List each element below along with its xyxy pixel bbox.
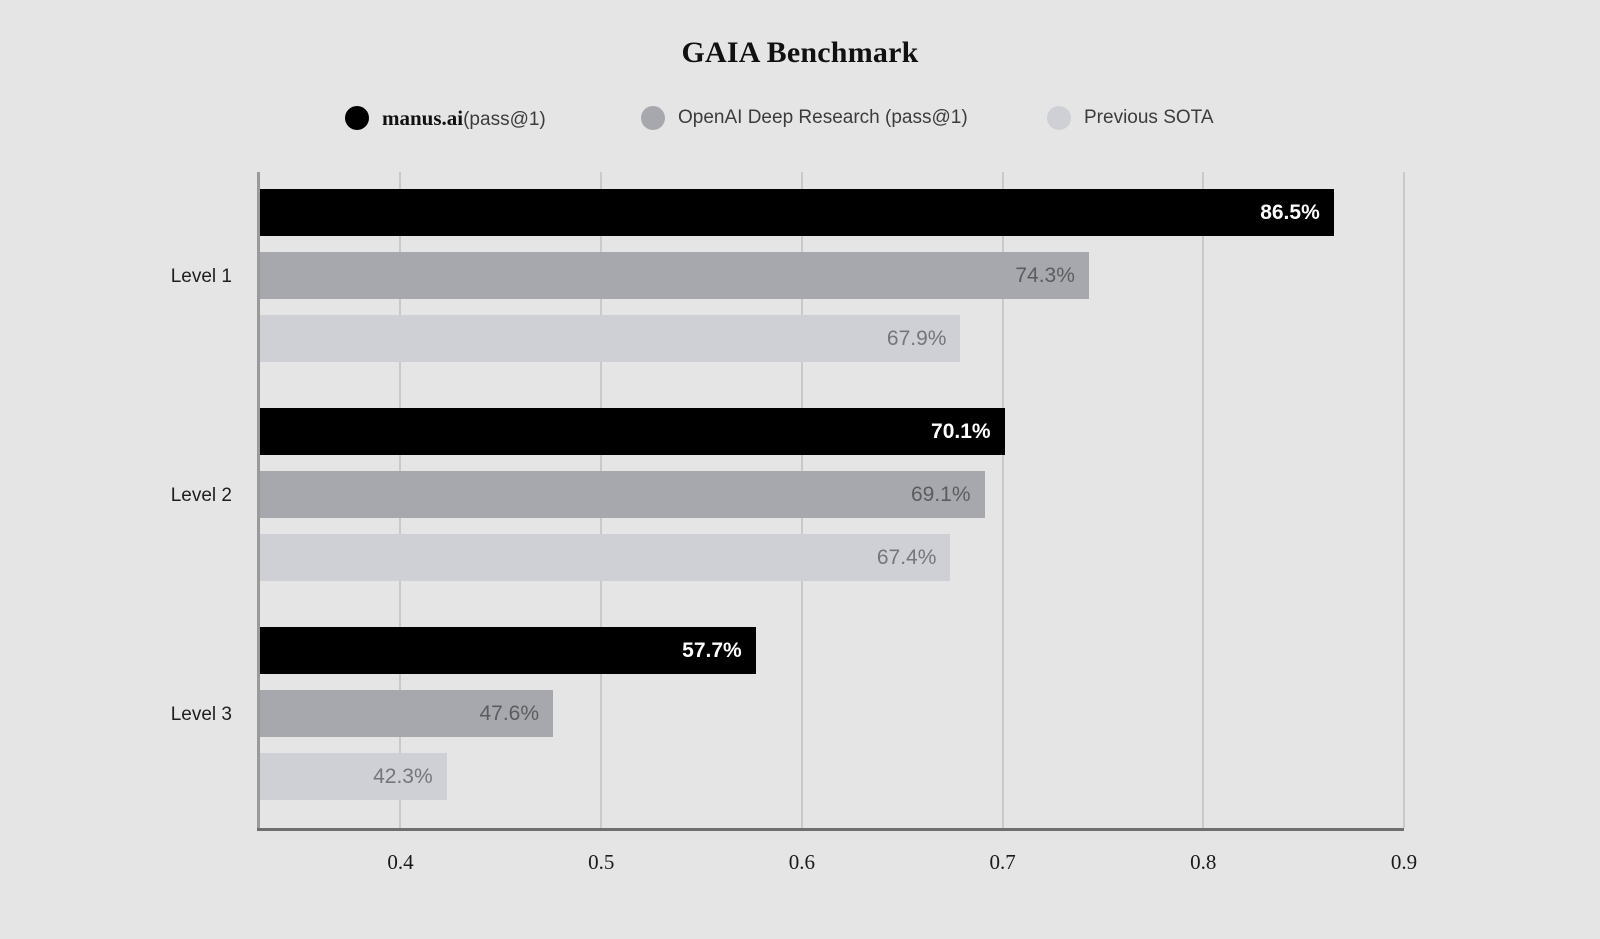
bar-level-1-series-0[interactable]: 86.5%: [260, 189, 1334, 236]
bar-level-2-series-0[interactable]: 70.1%: [260, 408, 1005, 455]
legend-item-previous-sota[interactable]: Previous SOTA: [1047, 100, 1214, 136]
x-axis-tick-label: 0.4: [340, 852, 460, 873]
bar-value-label: 67.4%: [877, 547, 951, 568]
chart-legend: manus.ai(pass@1) OpenAI Deep Research (p…: [345, 100, 1245, 136]
gridline: [1403, 172, 1405, 828]
bar-value-label: 57.7%: [682, 640, 756, 661]
x-axis-spine: [257, 828, 1404, 831]
bar-value-label: 67.9%: [887, 328, 961, 349]
legend-item-openai-deep-research[interactable]: OpenAI Deep Research (pass@1): [641, 100, 968, 136]
bar-level-3-series-2[interactable]: 42.3%: [260, 753, 447, 800]
legend-swatch-icon: [1047, 106, 1071, 130]
x-axis-tick-label: 0.9: [1344, 852, 1464, 873]
bar-level-3-series-0[interactable]: 57.7%: [260, 627, 756, 674]
chart-figure: GAIA Benchmark manus.ai(pass@1) OpenAI D…: [0, 0, 1600, 939]
legend-swatch-icon: [641, 106, 665, 130]
bar-value-label: 42.3%: [373, 766, 447, 787]
legend-item-label: OpenAI Deep Research (pass@1): [678, 107, 968, 129]
chart-title: GAIA Benchmark: [0, 38, 1600, 68]
x-axis-tick-label: 0.5: [541, 852, 661, 873]
legend-suffix-text: (pass@1): [463, 109, 546, 130]
legend-item-label: Previous SOTA: [1084, 107, 1214, 129]
legend-brand-text: manus.ai: [382, 106, 463, 130]
bar-value-label: 70.1%: [931, 421, 1005, 442]
x-axis-tick-label: 0.7: [943, 852, 1063, 873]
bar-value-label: 74.3%: [1015, 265, 1089, 286]
bar-value-label: 69.1%: [911, 484, 985, 505]
bar-value-label: 47.6%: [479, 703, 553, 724]
gridline: [1202, 172, 1204, 828]
legend-swatch-icon: [345, 106, 369, 130]
y-axis-tick-label: Level 3: [0, 705, 232, 724]
bar-level-2-series-1[interactable]: 69.1%: [260, 471, 985, 518]
bar-value-label: 86.5%: [1260, 202, 1334, 223]
x-axis-tick-label: 0.8: [1143, 852, 1263, 873]
bar-level-3-series-1[interactable]: 47.6%: [260, 690, 553, 737]
legend-suffix-text: OpenAI Deep Research (pass@1): [678, 107, 968, 128]
bar-level-1-series-1[interactable]: 74.3%: [260, 252, 1089, 299]
bar-level-1-series-2[interactable]: 67.9%: [260, 315, 960, 362]
plot-area: 86.5%74.3%67.9%70.1%69.1%67.4%57.7%47.6%…: [260, 172, 1404, 828]
legend-suffix-text: Previous SOTA: [1084, 107, 1214, 128]
y-axis-tick-label: Level 1: [0, 267, 232, 286]
legend-item-manus-ai[interactable]: manus.ai(pass@1): [345, 100, 546, 136]
x-axis-tick-label: 0.6: [742, 852, 862, 873]
legend-item-label: manus.ai(pass@1): [382, 106, 546, 131]
bar-level-2-series-2[interactable]: 67.4%: [260, 534, 950, 581]
y-axis-tick-label: Level 2: [0, 486, 232, 505]
